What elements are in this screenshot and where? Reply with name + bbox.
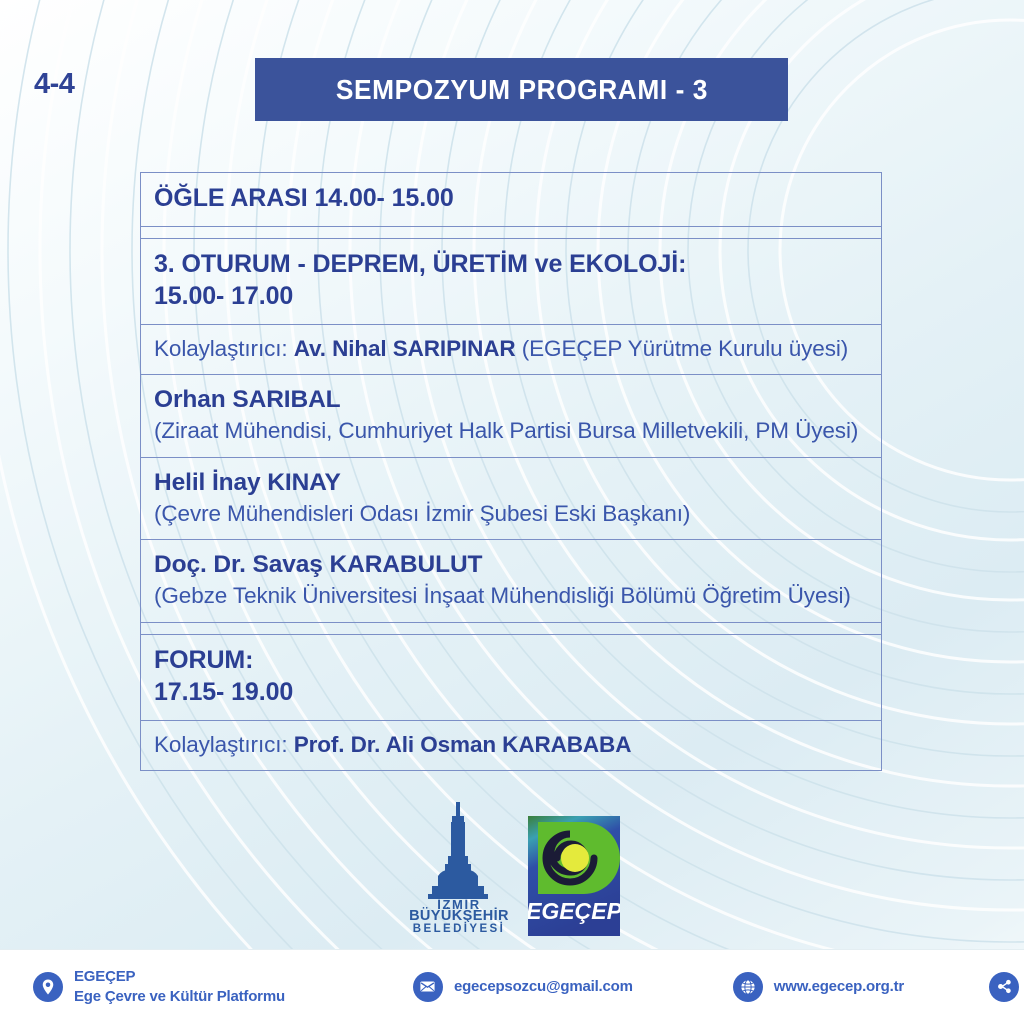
- logo-line-2: BÜYÜKŞEHİR: [409, 907, 509, 922]
- footer-item-location[interactable]: EGEÇEP Ege Çevre ve Kültür Platformu: [33, 967, 285, 1005]
- table-row: FORUM: 17.15- 19.00: [141, 635, 881, 721]
- location-pin-icon: [33, 972, 63, 1002]
- row-line: ÖĞLE ARASI 14.00- 15.00: [154, 182, 868, 215]
- moderator-label: Kolaylaştırıcı:: [154, 336, 294, 361]
- share-icon: [989, 972, 1019, 1002]
- program-table: ÖĞLE ARASI 14.00- 15.00 3. OTURUM - DEPR…: [140, 172, 882, 771]
- speaker-affiliation: (Çevre Mühendisleri Odası İzmir Şubesi E…: [154, 499, 868, 529]
- footer-website-text: www.egecep.org.tr: [774, 977, 904, 996]
- izmir-buyuksehir-belediyesi-logo: İZMİR BÜYÜKŞEHİR BELEDİYESİ: [404, 800, 514, 936]
- table-row: Orhan SARIBAL (Ziraat Mühendisi, Cumhuri…: [141, 375, 881, 458]
- envelope-icon: [413, 972, 443, 1002]
- egecep-wordmark: EGEÇEP: [528, 898, 620, 924]
- footer-item-social[interactable]: /EGECEP: [989, 972, 1024, 1002]
- row-line: FORUM:: [154, 644, 868, 677]
- row-line: 17.15- 19.00: [154, 676, 868, 709]
- row-line: 3. OTURUM - DEPREM, ÜRETİM ve EKOLOJİ:: [154, 248, 868, 281]
- moderator-affiliation: (EGEÇEP Yürütme Kurulu üyesi): [516, 336, 849, 361]
- table-row: Kolaylaştırıcı: Prof. Dr. Ali Osman KARA…: [141, 721, 881, 772]
- footer-bar: EGEÇEP Ege Çevre ve Kültür Platformu ege…: [0, 949, 1024, 1024]
- table-row: ÖĞLE ARASI 14.00- 15.00: [141, 173, 881, 227]
- footer-item-email[interactable]: egecepsozcu@gmail.com: [413, 972, 633, 1002]
- egecep-logo: EGEÇEP: [528, 816, 620, 936]
- footer-location-line2: Ege Çevre ve Kültür Platformu: [74, 987, 285, 1006]
- poster-canvas: 4-4 SEMPOZYUM PROGRAMI - 3 ÖĞLE ARASI 14…: [0, 0, 1024, 1024]
- page-title: SEMPOZYUM PROGRAMI - 3: [335, 74, 707, 106]
- title-bar: SEMPOZYUM PROGRAMI - 3: [255, 58, 788, 121]
- table-row: Kolaylaştırıcı: Av. Nihal SARIPINAR (EGE…: [141, 325, 881, 376]
- speaker-name: Helil İnay KINAY: [154, 467, 868, 499]
- table-row-separator: [141, 227, 881, 239]
- footer-location-text: EGEÇEP Ege Çevre ve Kültür Platformu: [74, 967, 285, 1005]
- logo-row: İZMİR BÜYÜKŞEHİR BELEDİYESİ: [0, 800, 1024, 936]
- moderator-label: Kolaylaştırıcı:: [154, 732, 294, 757]
- speaker-name: Doç. Dr. Savaş KARABULUT: [154, 549, 868, 581]
- footer-location-line1: EGEÇEP: [74, 967, 285, 986]
- moderator-name: Av. Nihal SARIPINAR: [294, 336, 516, 361]
- row-line: 15.00- 17.00: [154, 280, 868, 313]
- footer-item-website[interactable]: www.egecep.org.tr: [733, 972, 904, 1002]
- row-line: Kolaylaştırıcı: Av. Nihal SARIPINAR (EGE…: [154, 334, 868, 364]
- row-line: Kolaylaştırıcı: Prof. Dr. Ali Osman KARA…: [154, 730, 868, 760]
- globe-icon: [733, 972, 763, 1002]
- footer-email-text: egecepsozcu@gmail.com: [454, 977, 633, 996]
- logo-line-3: BELEDİYESİ: [413, 922, 505, 935]
- page-number-label: 4-4: [34, 68, 74, 101]
- speaker-affiliation: (Gebze Teknik Üniversitesi İnşaat Mühend…: [154, 581, 868, 611]
- table-row: Doç. Dr. Savaş KARABULUT (Gebze Teknik Ü…: [141, 540, 881, 623]
- speaker-name: Orhan SARIBAL: [154, 384, 868, 416]
- table-row: Helil İnay KINAY (Çevre Mühendisleri Oda…: [141, 458, 881, 541]
- table-row-separator: [141, 623, 881, 635]
- table-row: 3. OTURUM - DEPREM, ÜRETİM ve EKOLOJİ: 1…: [141, 239, 881, 325]
- moderator-name: Prof. Dr. Ali Osman KARABABA: [294, 732, 632, 757]
- speaker-affiliation: (Ziraat Mühendisi, Cumhuriyet Halk Parti…: [154, 416, 868, 446]
